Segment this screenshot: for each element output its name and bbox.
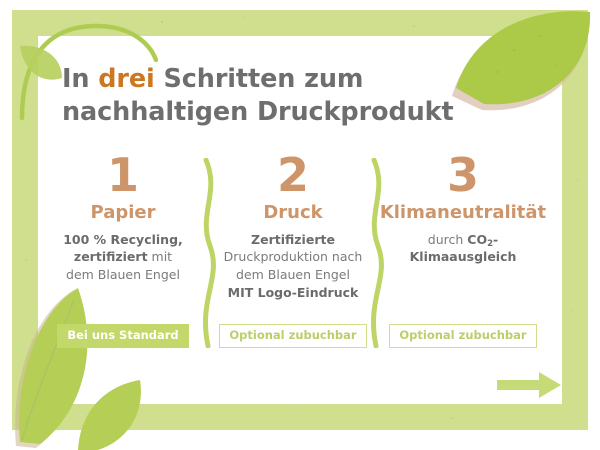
step-1-desc-bold-2: zertifiziert bbox=[74, 249, 148, 264]
step-2-desc-plain-2: dem Blauen Engel bbox=[236, 267, 350, 282]
step-3-co2-subscript: 2 bbox=[487, 239, 493, 249]
badge-cell-2: Optional zubuchbar bbox=[208, 323, 378, 349]
arrow-right-icon bbox=[497, 371, 563, 399]
step-2-desc-plain-1: Druckproduktion nach bbox=[224, 249, 363, 264]
step-2: 2 Druck Zertifizierte Druckproduktion na… bbox=[208, 152, 378, 302]
step-3: 3 Klimaneutralität durch CO2- Klimaausgl… bbox=[378, 152, 548, 266]
step-2-description: Zertifizierte Druckproduktion nach dem B… bbox=[208, 231, 378, 302]
step-1: 1 Papier 100 % Recycling, zertifiziert m… bbox=[38, 152, 208, 284]
step-1-desc-plain-1: mit bbox=[148, 249, 173, 264]
badges-row: Bei uns Standard Optional zubuchbar Opti… bbox=[38, 323, 562, 349]
step-3-co2-letters: CO bbox=[467, 232, 487, 247]
step-3-co2-dash: - bbox=[493, 232, 498, 247]
step-2-number: 2 bbox=[208, 152, 378, 198]
badge-cell-1: Bei uns Standard bbox=[38, 323, 208, 349]
badge-cell-3: Optional zubuchbar bbox=[378, 323, 548, 349]
step-1-title: Papier bbox=[38, 203, 208, 224]
step-1-desc-plain-2: dem Blauen Engel bbox=[66, 267, 180, 282]
step-3-description: durch CO2- Klimaausgleich bbox=[378, 231, 548, 267]
status-badge-step-1[interactable]: Bei uns Standard bbox=[57, 324, 188, 349]
step-3-desc-bold-2: Klimaausgleich bbox=[410, 249, 517, 264]
page-title: In drei Schritten zum nachhaltigen Druck… bbox=[62, 63, 532, 128]
infographic-poster: In drei Schritten zum nachhaltigen Druck… bbox=[0, 0, 600, 450]
step-2-desc-bold-1: Zertifizierte bbox=[251, 232, 335, 247]
step-3-number: 3 bbox=[378, 152, 548, 198]
step-2-desc-bold-2: MIT Logo-Eindruck bbox=[228, 285, 359, 300]
status-badge-step-3[interactable]: Optional zubuchbar bbox=[389, 324, 536, 349]
headline-accent-word: drei bbox=[98, 64, 154, 94]
step-1-number: 1 bbox=[38, 152, 208, 198]
step-1-description: 100 % Recycling, zertifiziert mit dem Bl… bbox=[38, 231, 208, 284]
headline-line1-post: Schritten zum bbox=[155, 64, 364, 94]
step-1-desc-bold-1: 100 % Recycling, bbox=[63, 232, 183, 247]
step-3-desc-co2: CO2- bbox=[467, 232, 498, 247]
step-3-desc-plain-1: durch bbox=[428, 232, 468, 247]
status-badge-step-2[interactable]: Optional zubuchbar bbox=[219, 324, 366, 349]
headline-line2: nachhaltigen Druckprodukt bbox=[62, 97, 454, 127]
headline-line1-pre: In bbox=[62, 64, 98, 94]
step-3-title: Klimaneutralität bbox=[378, 203, 548, 224]
step-2-title: Druck bbox=[208, 203, 378, 224]
